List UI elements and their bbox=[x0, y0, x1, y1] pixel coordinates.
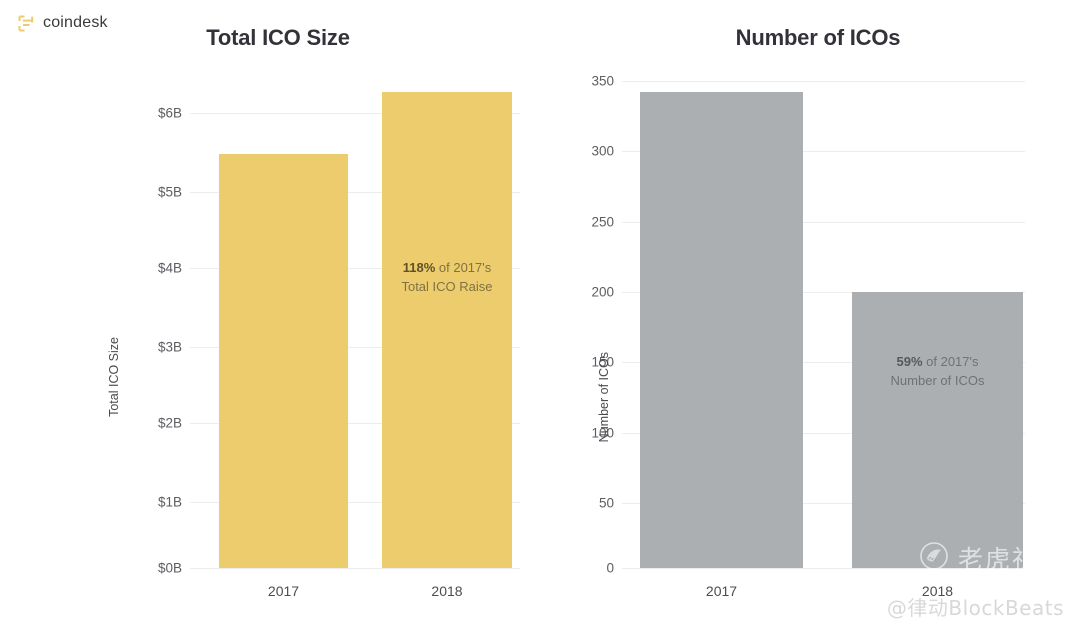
x-axis-label-2017-right: 2017 bbox=[640, 583, 803, 599]
chart-number-of-icos: Number of ICOs 350 300 250 200 150 100 5… bbox=[540, 0, 1080, 629]
annotation-left-rest: of 2017's bbox=[435, 260, 491, 275]
y-axis-tick: $3B bbox=[140, 340, 182, 355]
y-axis-tick: 200 bbox=[570, 285, 614, 300]
y-axis-tick: 250 bbox=[570, 215, 614, 230]
y-axis-title-right: Number of ICOs bbox=[597, 352, 611, 442]
plot-area-right: 350 300 250 200 150 100 50 0 Number of I… bbox=[540, 0, 1080, 629]
annotation-right-line2: Number of ICOs bbox=[852, 371, 1023, 390]
annotation-left: 118% of 2017's Total ICO Raise bbox=[382, 258, 512, 296]
annotation-right-percent: 59% bbox=[897, 354, 923, 369]
gridline bbox=[622, 81, 1025, 82]
chart-total-ico-size: Total ICO Size $6B $5B $4B $3B $2B $1B $… bbox=[0, 0, 540, 629]
annotation-left-line1: 118% of 2017's bbox=[382, 258, 512, 277]
bar-2018-total-ico-size bbox=[382, 92, 512, 568]
watermark-tiger: 老虎社区 bbox=[919, 540, 1066, 576]
y-axis-tick: $5B bbox=[140, 185, 182, 200]
y-axis-tick: $2B bbox=[140, 416, 182, 431]
bar-2017-total-ico-size bbox=[219, 154, 348, 568]
watermark-blockbeats: @律动BlockBeats bbox=[887, 592, 1064, 621]
y-axis-tick: 0 bbox=[570, 561, 614, 576]
annotation-right-rest: of 2017's bbox=[923, 354, 979, 369]
y-axis-tick: $6B bbox=[140, 106, 182, 121]
bar-2017-number-of-icos bbox=[640, 92, 803, 568]
watermark-tiger-text: 老虎社区 bbox=[958, 540, 1066, 576]
gridline bbox=[190, 568, 520, 569]
y-axis-tick: $0B bbox=[140, 561, 182, 576]
annotation-left-line2: Total ICO Raise bbox=[382, 277, 512, 296]
y-axis-title-left: Total ICO Size bbox=[107, 337, 121, 417]
y-axis-tick: $1B bbox=[140, 495, 182, 510]
annotation-right-line1: 59% of 2017's bbox=[852, 352, 1023, 371]
y-axis-tick: $4B bbox=[140, 261, 182, 276]
y-axis-tick: 50 bbox=[570, 496, 614, 511]
y-axis-tick: 350 bbox=[570, 74, 614, 89]
tiger-circle-icon bbox=[919, 541, 949, 576]
y-axis-tick: 300 bbox=[570, 144, 614, 159]
bar-2018-number-of-icos bbox=[852, 292, 1023, 568]
annotation-left-percent: 118% bbox=[403, 260, 436, 275]
x-axis-label-2018-left: 2018 bbox=[382, 583, 512, 599]
x-axis-label-2017-left: 2017 bbox=[219, 583, 348, 599]
plot-area-left: $6B $5B $4B $3B $2B $1B $0B Total ICO Si… bbox=[0, 0, 540, 629]
annotation-right: 59% of 2017's Number of ICOs bbox=[852, 352, 1023, 390]
